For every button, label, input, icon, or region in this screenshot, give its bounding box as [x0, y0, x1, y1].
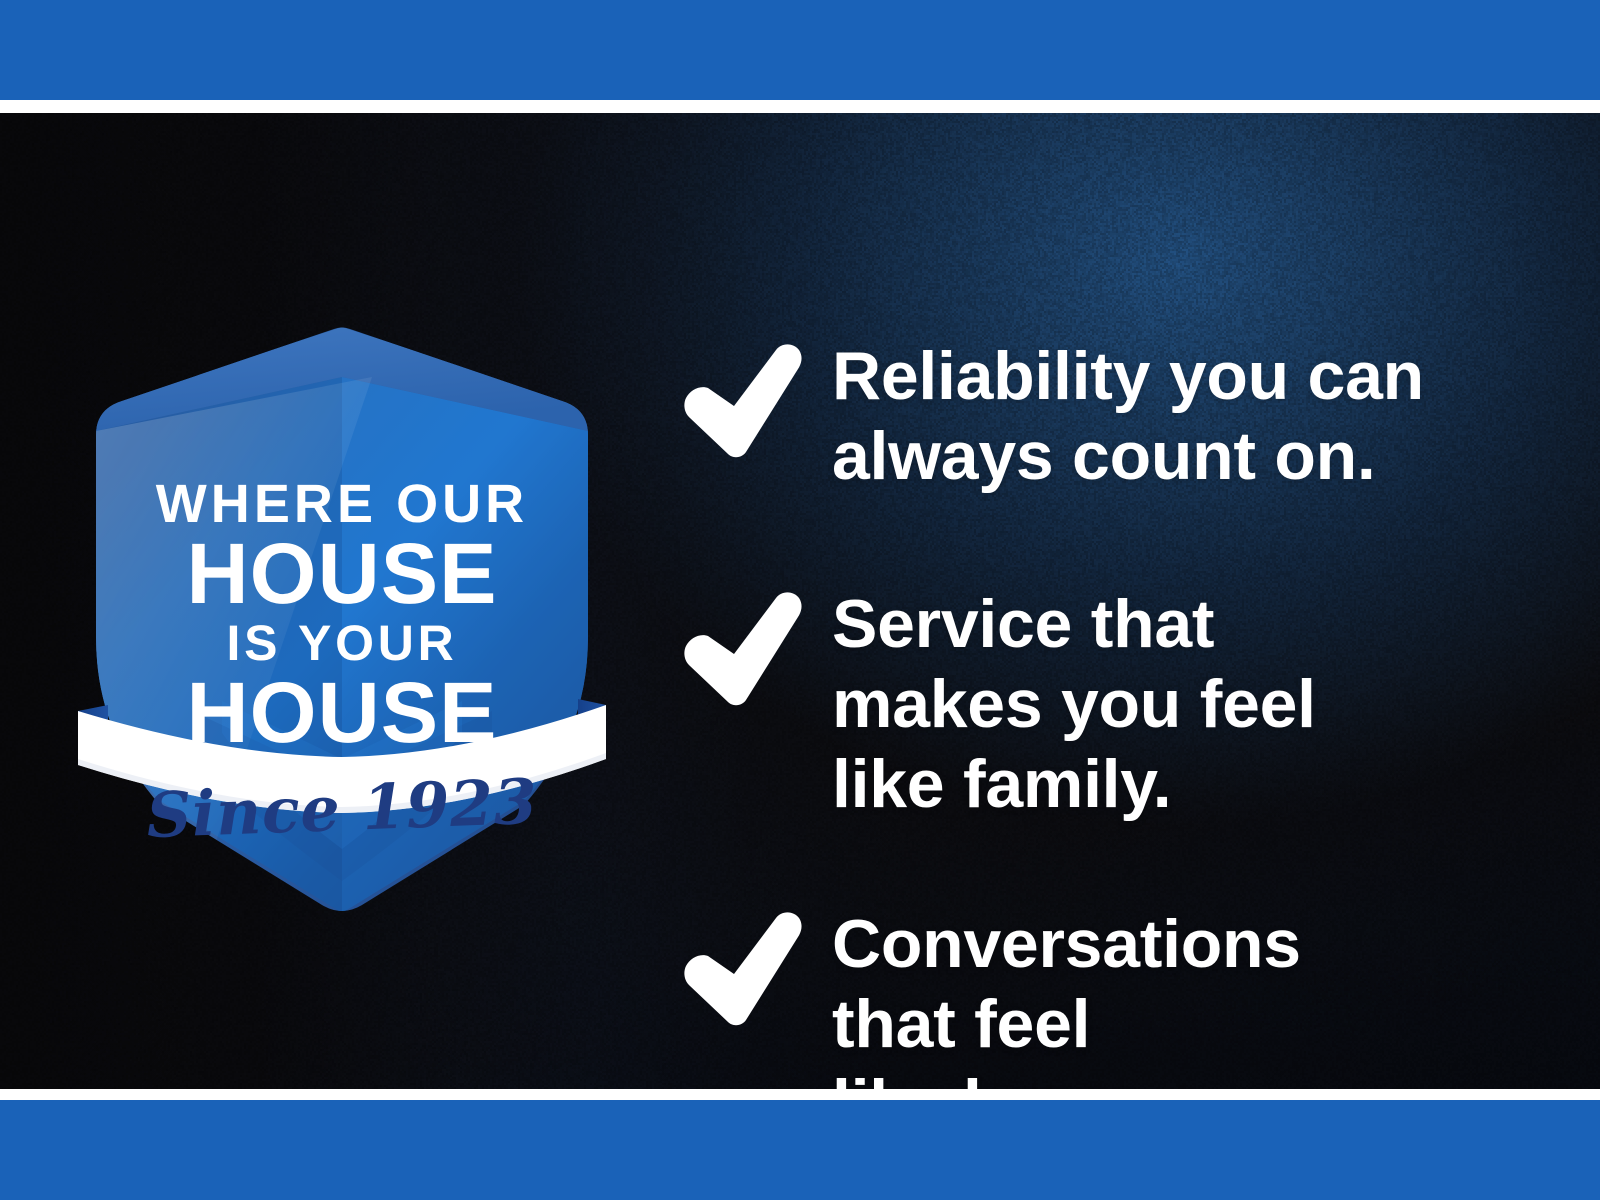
since-banner-text: Since 1923 [71, 768, 613, 850]
bottom-accent-bar [0, 1100, 1600, 1200]
top-accent-bar [0, 0, 1600, 100]
logo-line-house-2: HOUSE [72, 670, 612, 756]
benefit-text-reliability: Reliability you can always count on. [832, 336, 1424, 496]
logo-line-where: WHERE OUR [72, 477, 612, 531]
main-panel: WHERE OUR HOUSE IS YOUR HOUSE Since 1923… [0, 113, 1600, 1089]
benefits-list: Reliability you can always count on. Ser… [672, 226, 1532, 1089]
top-white-stripe [0, 100, 1600, 113]
benefit-item-reliability: Reliability you can always count on. [672, 336, 1532, 496]
checkmark-icon [672, 584, 832, 708]
bottom-white-stripe [0, 1089, 1600, 1100]
checkmark-icon [672, 336, 832, 460]
logo-line-house-1: HOUSE [72, 531, 612, 617]
benefit-item-service: Service that makes you feel like family. [672, 584, 1532, 824]
shield-badge: WHERE OUR HOUSE IS YOUR HOUSE Since 1923 [72, 281, 612, 921]
checkmark-icon [672, 904, 832, 1028]
benefit-item-conversations: Conversations that feel like home. [672, 904, 1532, 1089]
logo-line-is-your: IS YOUR [72, 618, 612, 668]
checkmark-icon-glyph [672, 342, 808, 460]
checkmark-icon-glyph [672, 590, 808, 708]
promo-graphic: WHERE OUR HOUSE IS YOUR HOUSE Since 1923… [0, 0, 1600, 1200]
benefit-text-conversations: Conversations that feel like home. [832, 904, 1301, 1089]
checkmark-icon-glyph [672, 910, 808, 1028]
benefit-text-service: Service that makes you feel like family. [832, 584, 1316, 824]
